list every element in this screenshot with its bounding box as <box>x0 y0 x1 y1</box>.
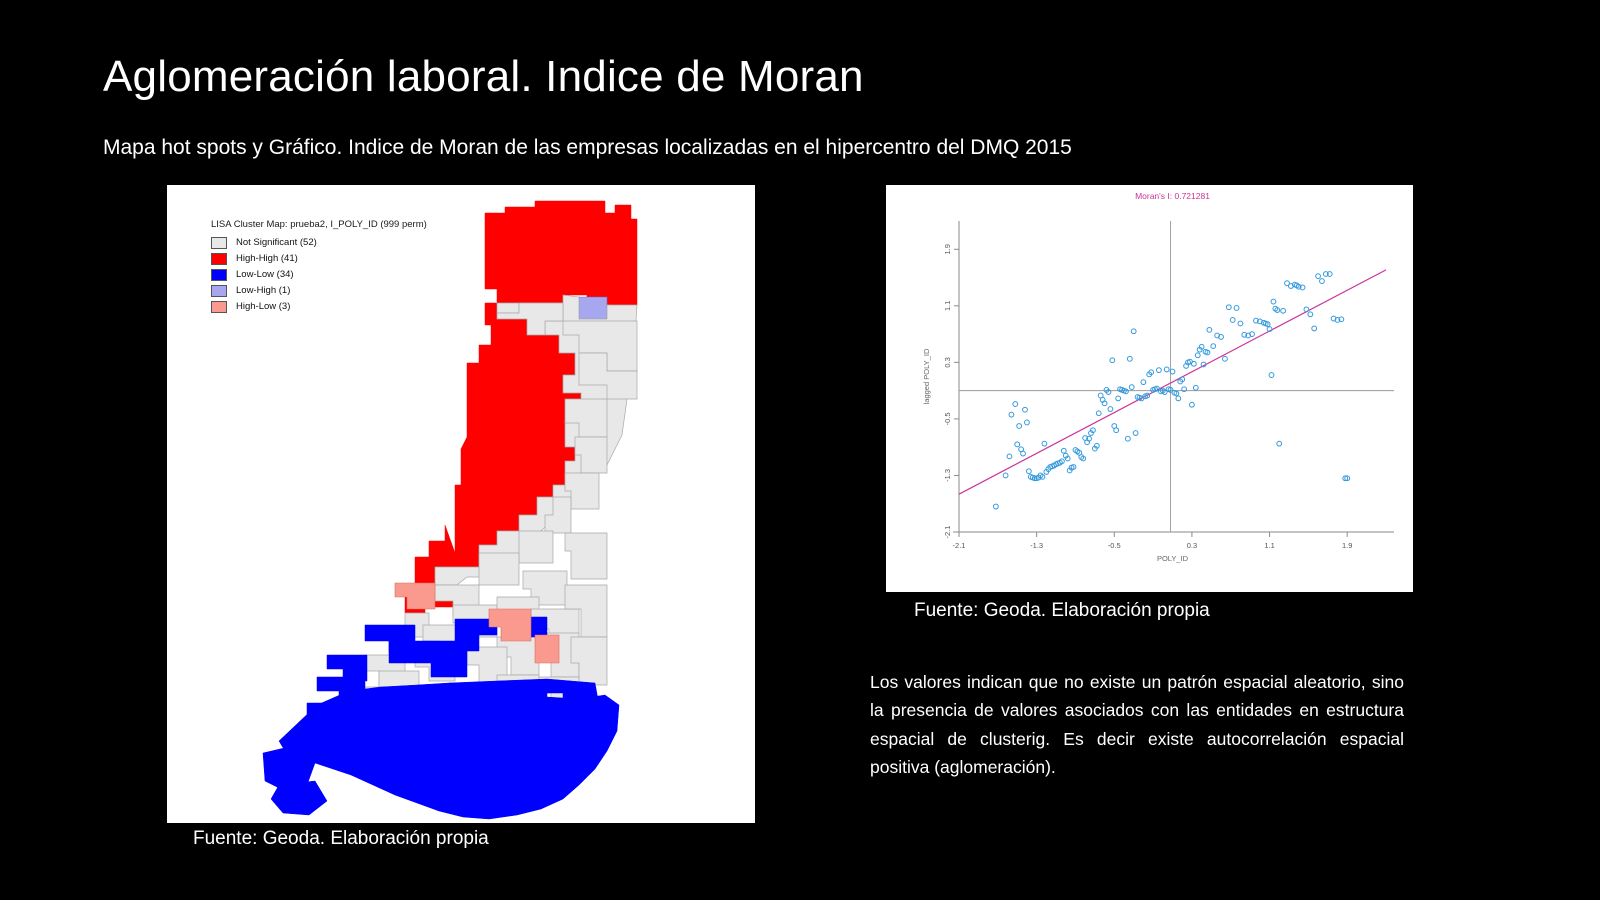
scatter-point <box>1116 396 1121 401</box>
legend-label-low-low: Low-Low (34) <box>236 270 294 280</box>
x-tick-label: 1.1 <box>1264 541 1274 550</box>
legend-swatch-low-high <box>211 285 227 297</box>
legend-label-high-low: High-Low (3) <box>236 302 290 312</box>
scatter-point <box>1238 321 1243 326</box>
y-tick-label: 1.1 <box>943 301 952 311</box>
scatter-point <box>1007 454 1012 459</box>
scatter-point <box>1234 306 1239 311</box>
scatter-point <box>1157 368 1162 373</box>
scatter-point <box>1195 353 1200 358</box>
scatter-point <box>1061 448 1066 453</box>
map-panel: LISA Cluster Map: prueba2, I_POLY_ID (99… <box>167 185 755 823</box>
scatter-point <box>1190 402 1195 407</box>
y-tick-label: 0.3 <box>943 357 952 367</box>
scatter-point <box>1271 299 1276 304</box>
x-tick-label: -1.3 <box>1030 541 1043 550</box>
scatter-point <box>1141 380 1146 385</box>
page-title: Aglomeración laboral. Indice de Moran <box>103 52 864 102</box>
scatter-point <box>1017 424 1022 429</box>
scatter-point <box>1226 305 1231 310</box>
scatter-point <box>1129 385 1134 390</box>
scatter-source-caption: Fuente: Geoda. Elaboración propia <box>914 600 1210 622</box>
scatter-point <box>1131 329 1136 334</box>
scatter-point <box>1009 412 1014 417</box>
scatter-point <box>993 504 998 509</box>
y-tick-label: -0.5 <box>943 412 952 425</box>
moran-scatter-panel: Moran's I: 0.721281 -2.1-1.3-0.50.31.11.… <box>886 185 1413 592</box>
map-source-caption: Fuente: Geoda. Elaboración propia <box>193 828 489 850</box>
legend-item-low-low[interactable]: Low-Low (34) <box>211 267 427 283</box>
scatter-point <box>1127 356 1132 361</box>
legend-label-high-high: High-High (41) <box>236 254 298 264</box>
map-region-low-high <box>579 297 607 319</box>
legend-swatch-high-high <box>211 253 227 265</box>
legend-label-not-significant: Not Significant (52) <box>236 238 317 248</box>
regression-line <box>959 270 1386 494</box>
y-tick-label: 1.9 <box>943 244 952 254</box>
scatter-point <box>1277 441 1282 446</box>
scatter-point <box>1176 396 1181 401</box>
scatter-point <box>1021 451 1026 456</box>
scatter-point <box>1110 358 1115 363</box>
x-tick-label: 1.9 <box>1342 541 1352 550</box>
commentary-text: Los valores indican que no existe un pat… <box>870 668 1404 781</box>
scatter-point <box>1013 402 1018 407</box>
legend-item-high-low[interactable]: High-Low (3) <box>211 299 427 315</box>
scatter-point <box>1191 361 1196 366</box>
y-axis-title: lagged POLY_ID <box>922 348 931 404</box>
scatter-point <box>1269 373 1274 378</box>
scatter-point <box>1211 344 1216 349</box>
scatter-point <box>1164 367 1169 372</box>
slide-root: Aglomeración laboral. Indice de Moran Ma… <box>0 0 1600 900</box>
scatter-point <box>1281 308 1286 313</box>
y-tick-label: -1.3 <box>943 469 952 482</box>
scatter-point <box>1042 441 1047 446</box>
legend-item-low-high[interactable]: Low-High (1) <box>211 283 427 299</box>
legend-swatch-low-low <box>211 269 227 281</box>
scatter-point <box>1114 428 1119 433</box>
scatter-point <box>1125 436 1130 441</box>
scatter-point <box>1026 469 1031 474</box>
scatter-point <box>1193 385 1198 390</box>
scatter-point <box>1133 431 1138 436</box>
legend-swatch-not-significant <box>211 237 227 249</box>
legend-item-high-high[interactable]: High-High (41) <box>211 251 427 267</box>
scatter-point <box>1230 318 1235 323</box>
scatter-point <box>1316 274 1321 279</box>
scatter-point <box>1096 411 1101 416</box>
scatter-point <box>1025 420 1030 425</box>
scatter-point <box>1308 312 1313 317</box>
scatter-point <box>1312 326 1317 331</box>
legend-item-not-significant[interactable]: Not Significant (52) <box>211 235 427 251</box>
legend-label-low-high: Low-High (1) <box>236 286 290 296</box>
scatter-point <box>1003 473 1008 478</box>
scatter-point <box>1320 279 1325 284</box>
scatter-point <box>1108 407 1113 412</box>
moran-scatterplot: Moran's I: 0.721281 -2.1-1.3-0.50.31.11.… <box>886 185 1413 592</box>
x-tick-label: -2.1 <box>953 541 966 550</box>
legend-title: LISA Cluster Map: prueba2, I_POLY_ID (99… <box>211 220 427 230</box>
x-tick-label: -0.5 <box>1108 541 1121 550</box>
x-axis-title: POLY_ID <box>1157 554 1189 563</box>
legend-swatch-high-low <box>211 301 227 313</box>
scatter-point <box>1223 356 1228 361</box>
y-tick-label: -2.1 <box>943 526 952 539</box>
chart-title: Moran's I: 0.721281 <box>1135 191 1210 201</box>
scatter-point <box>1023 407 1028 412</box>
scatter-point <box>1207 327 1212 332</box>
page-subtitle: Mapa hot spots y Gráfico. Indice de Mora… <box>103 136 1072 160</box>
x-tick-label: 0.3 <box>1187 541 1197 550</box>
scatter-point <box>1015 442 1020 447</box>
map-legend: LISA Cluster Map: prueba2, I_POLY_ID (99… <box>211 220 427 315</box>
